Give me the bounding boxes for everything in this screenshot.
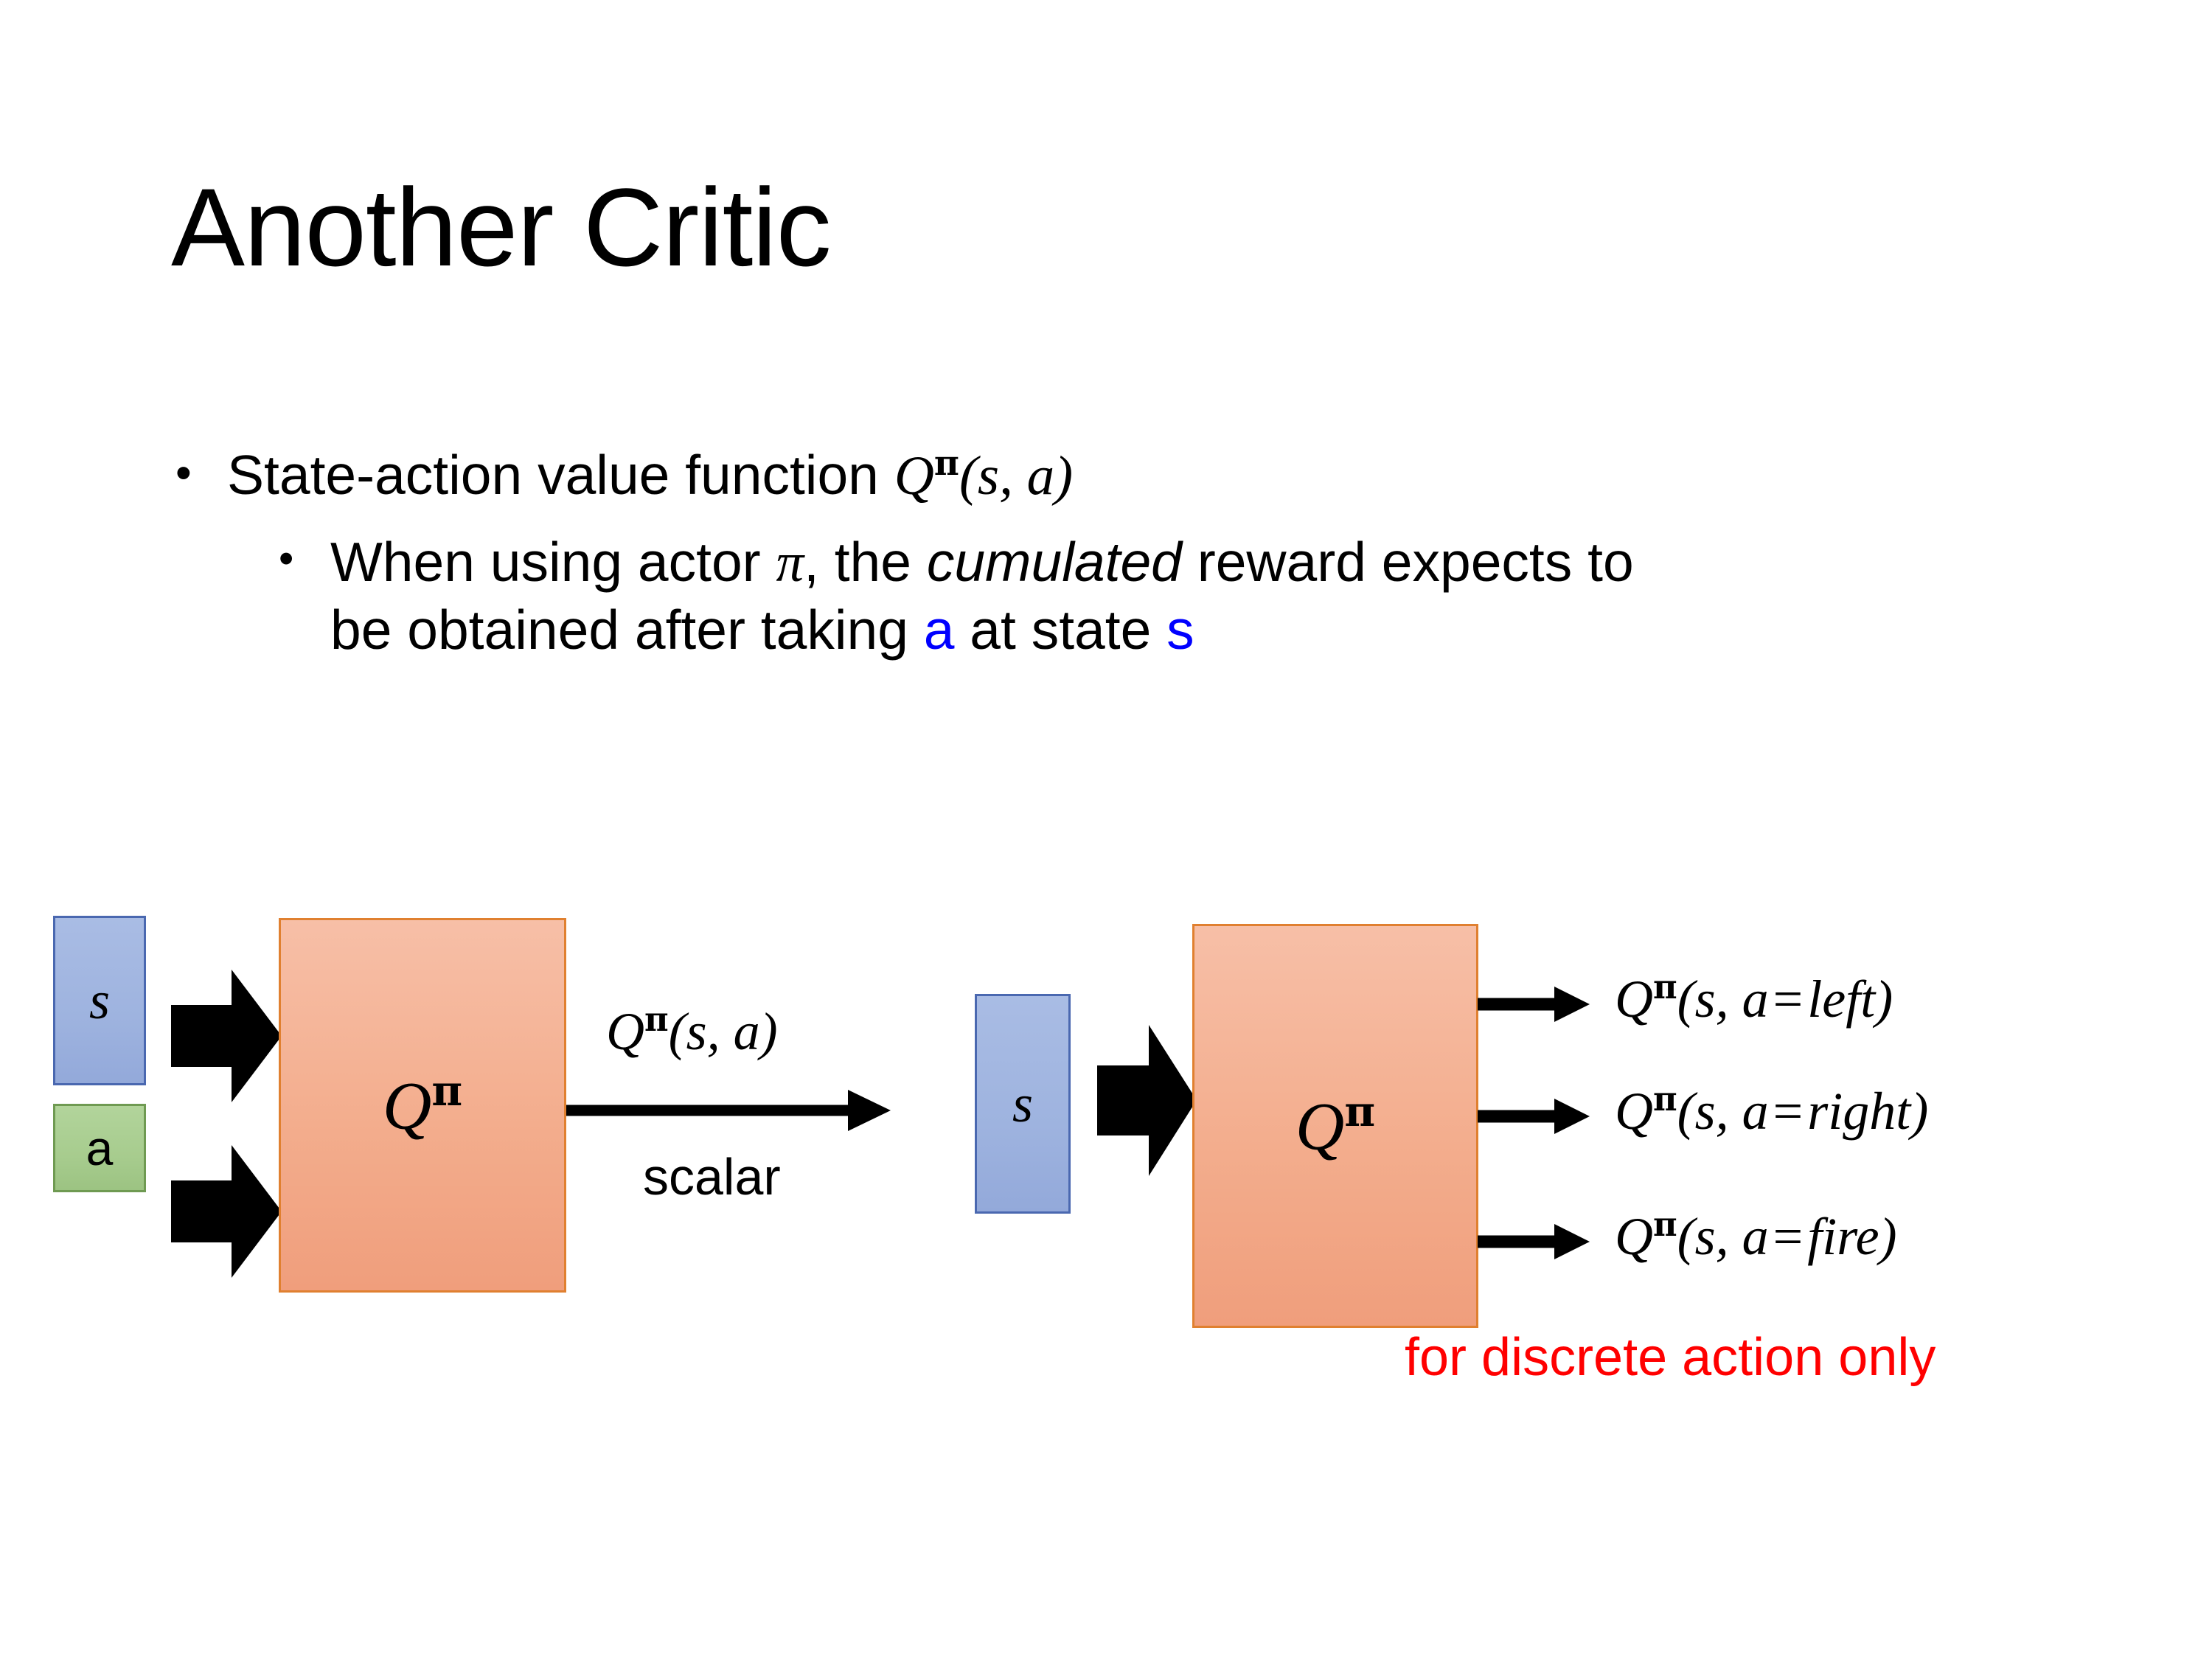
right-output-formula-right: Qπ(s, a=right) bbox=[1615, 1079, 1928, 1142]
network-label-superscript: π bbox=[1344, 1087, 1375, 1136]
formula-superscript: π bbox=[1653, 1079, 1677, 1119]
arrow-right-icon bbox=[1478, 1224, 1590, 1259]
formula-superscript: π bbox=[1653, 967, 1677, 1006]
formula-base: Q bbox=[1615, 970, 1653, 1029]
formula-value: right bbox=[1807, 1082, 1910, 1141]
discrete-action-note: for discrete action only bbox=[1405, 1327, 1935, 1388]
formula-equals: = bbox=[1769, 970, 1808, 1029]
formula-args-close: ) bbox=[1875, 970, 1893, 1029]
network-label-base: Q bbox=[1295, 1088, 1344, 1164]
arrow-right-icon bbox=[1478, 1099, 1590, 1134]
diagram-right: s Qπ Qπ(s, a=left) Qπ(s, a=right) bbox=[0, 0, 2212, 1659]
right-output-formula-fire: Qπ(s, a=fire) bbox=[1615, 1205, 1897, 1267]
formula-equals: = bbox=[1769, 1082, 1808, 1141]
right-state-box: s bbox=[975, 994, 1071, 1214]
right-state-box-label: s bbox=[1012, 1074, 1033, 1135]
formula-value: left bbox=[1807, 970, 1875, 1029]
formula-args-open: (s, a bbox=[1677, 970, 1769, 1029]
block-arrow-right-icon bbox=[1097, 1025, 1197, 1176]
formula-args-open: (s, a bbox=[1677, 1082, 1769, 1141]
formula-args-close: ) bbox=[1910, 1082, 1928, 1141]
right-network-box: Qπ bbox=[1192, 924, 1478, 1328]
formula-superscript: π bbox=[1653, 1205, 1677, 1244]
formula-args-close: ) bbox=[1879, 1207, 1897, 1266]
formula-base: Q bbox=[1615, 1082, 1653, 1141]
right-network-label: Qπ bbox=[1295, 1087, 1375, 1166]
right-output-formula-left: Qπ(s, a=left) bbox=[1615, 967, 1893, 1030]
arrow-right-icon bbox=[1478, 987, 1590, 1022]
formula-base: Q bbox=[1615, 1207, 1653, 1266]
formula-equals: = bbox=[1769, 1207, 1808, 1266]
formula-value: fire bbox=[1807, 1207, 1879, 1266]
formula-args-open: (s, a bbox=[1677, 1207, 1769, 1266]
